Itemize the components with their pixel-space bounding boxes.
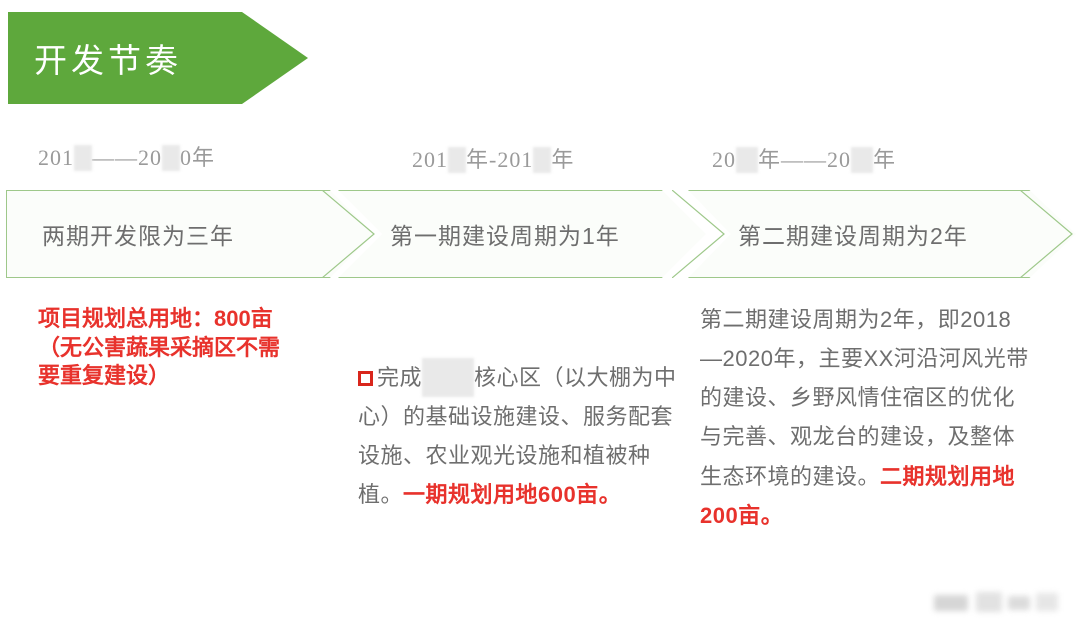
date-label-2-redaction-b [533,147,551,173]
timeline-stage-1-label: 两期开发限为三年 [42,217,234,251]
stage-2-note-redaction [422,358,474,397]
date-label-2-suffix: 年 [551,147,574,172]
watermark-block-2 [976,592,1002,612]
page-title: 开发节奏 [34,34,182,82]
date-label-1-redaction-a [74,145,92,171]
timeline-stage-2[interactable]: 第一期建设周期为1年 [338,190,706,278]
date-label-3-suffix: 年 [873,147,896,172]
stage-2-note-lead: 完成 [377,365,422,390]
slide-root: 开发节奏 201 ——20 0年 201 年-201 年 20 年——20 年 … [0,0,1080,643]
date-label-3-mid: 年——20 [758,147,851,172]
stage-2-note-text: 完成 核心区（以大棚为中心）的基础设施建设、服务配套设施、农业观光设施和植被种植… [358,358,688,515]
date-label-2-mid: 年-201 [466,147,533,172]
watermark-block-3 [1008,596,1030,610]
watermark-block-4 [1036,593,1058,611]
stage-1-note-text: 项目规划总用地：800亩（无公害蔬果采摘区不需要重复建设） [38,305,298,391]
timeline-stage-2-label: 第一期建设周期为1年 [390,217,620,251]
timeline-date-row: 201 ——20 0年 201 年-201 年 20 年——20 年 [0,140,1080,178]
stage-3-note-body: 第二期建设周期为2年，即2018—2020年，主要XX河沿河风光带的建设、乡野风… [700,307,1029,489]
date-label-2-prefix: 201 [412,147,448,172]
date-label-1-prefix: 201 [38,145,74,170]
date-label-stage-3: 20 年——20 年 [712,142,896,174]
stage-3-note-text: 第二期建设周期为2年，即2018—2020年，主要XX河沿河风光带的建设、乡野风… [700,300,1030,535]
timeline-stage-1[interactable]: 两期开发限为三年 [6,190,374,278]
stage-1-note: 项目规划总用地：800亩（无公害蔬果采摘区不需要重复建设） [38,305,298,391]
timeline-chevron-band: 两期开发限为三年 第一期建设周期为1年 第二期建设周期为2年 [0,190,1080,278]
date-label-1-redaction-b [162,145,180,171]
watermark-block-1 [934,595,968,611]
stage-2-note: 完成 核心区（以大棚为中心）的基础设施建设、服务配套设施、农业观光设施和植被种植… [358,358,688,515]
timeline-stage-3[interactable]: 第二期建设周期为2年 [688,190,1076,278]
stage-2-note-highlight: 一期规划用地600亩。 [403,482,621,507]
header-banner: 开发节奏 [8,12,308,104]
timeline-stage-3-label: 第二期建设周期为2年 [738,217,968,251]
date-label-1-suffix: 0年 [180,145,215,170]
red-square-bullet-icon [358,371,373,386]
stage-3-note: 第二期建设周期为2年，即2018—2020年，主要XX河沿河风光带的建设、乡野风… [700,300,1030,535]
date-label-stage-1: 201 ——20 0年 [38,140,215,172]
blurred-watermark [932,587,1062,621]
date-label-3-redaction-a [736,147,758,173]
date-label-3-redaction-b [851,147,873,173]
date-label-3-prefix: 20 [712,147,736,172]
date-label-stage-2: 201 年-201 年 [412,142,574,174]
date-label-2-redaction-a [448,147,466,173]
date-label-1-mid: ——20 [92,145,162,170]
